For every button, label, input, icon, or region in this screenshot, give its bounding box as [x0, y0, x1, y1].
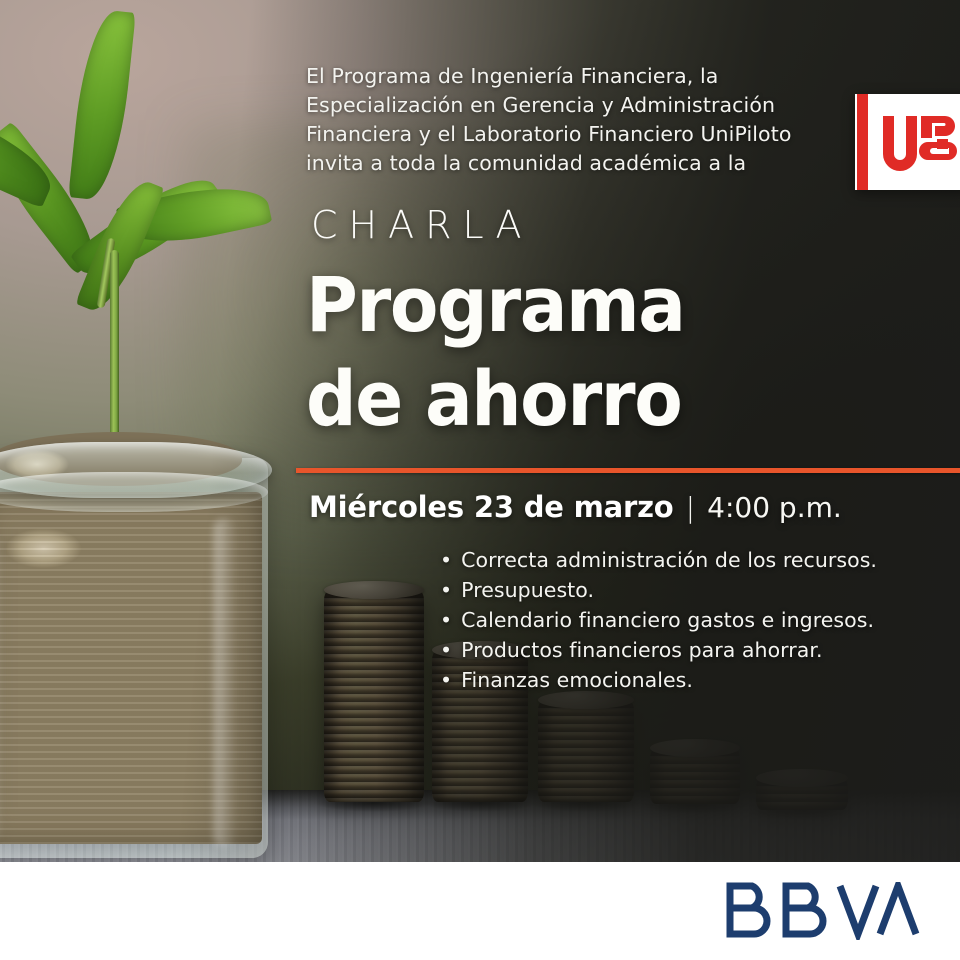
intro-line-4: invita a toda la comunidad académica a l… [306, 149, 826, 178]
topics-list: Correcta administración de los recursos.… [440, 545, 910, 695]
bbva-wordmark-icon [724, 882, 924, 940]
flyer-content: El Programa de Ingeniería Financiera, la… [0, 0, 960, 960]
intro-paragraph: El Programa de Ingeniería Financiera, la… [306, 62, 826, 178]
event-datetime: Miércoles 23 de marzo | 4:00 p.m. [309, 490, 842, 524]
list-item: Productos financieros para ahorrar. [440, 635, 910, 665]
list-item: Presupuesto. [440, 575, 910, 605]
list-item: Correcta administración de los recursos. [440, 545, 910, 575]
intro-line-1: El Programa de Ingeniería Financiera, la [306, 62, 826, 91]
title-line-2: de ahorro [306, 352, 864, 446]
datetime-separator: | [686, 491, 695, 524]
unipiloto-monogram-icon [881, 114, 959, 172]
bbva-logo [724, 882, 924, 944]
intro-line-2: Especialización en Gerencia y Administra… [306, 91, 826, 120]
title-line-1: Programa [306, 258, 864, 352]
unipiloto-logo [855, 94, 960, 190]
event-time: 4:00 p.m. [707, 491, 842, 524]
event-flyer: El Programa de Ingeniería Financiera, la… [0, 0, 960, 960]
event-type-eyebrow: CHARLA [311, 203, 533, 247]
sponsor-footer [0, 862, 960, 960]
list-item: Calendario financiero gastos e ingresos. [440, 605, 910, 635]
list-item: Finanzas emocionales. [440, 665, 910, 695]
unipiloto-logo-bar [857, 94, 868, 190]
event-date: Miércoles 23 de marzo [309, 490, 674, 524]
intro-line-3: Financiera y el Laboratorio Financiero U… [306, 120, 826, 149]
page-title: Programa de ahorro [306, 258, 864, 446]
accent-divider [296, 468, 960, 473]
unipiloto-logo-mark [881, 114, 959, 176]
